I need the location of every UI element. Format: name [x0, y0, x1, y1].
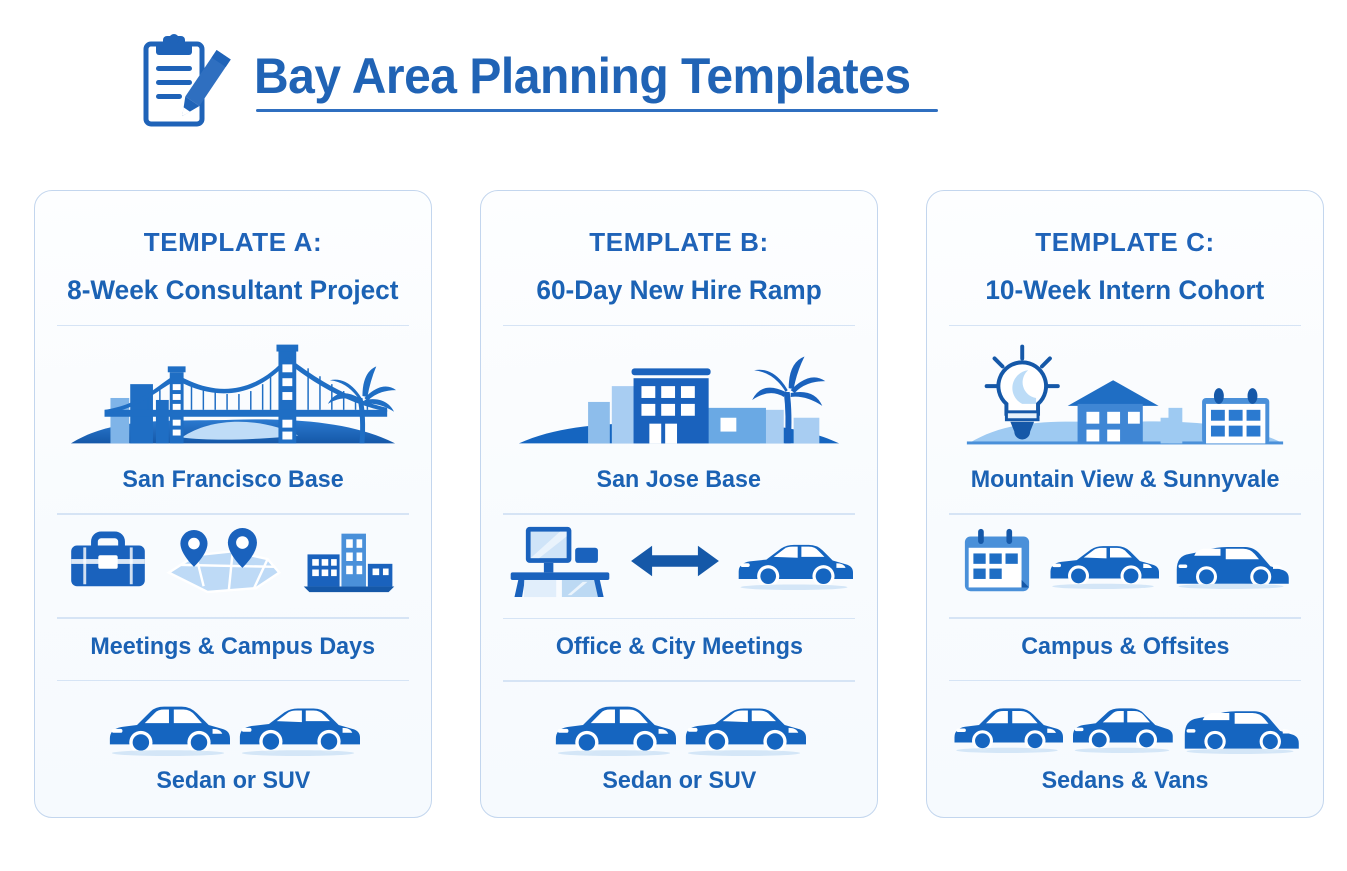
card-c-vehicle-row [949, 693, 1301, 757]
san-jose-office-building-illustration [503, 340, 855, 452]
suv-icon [552, 694, 676, 756]
hatchback-icon [1069, 697, 1175, 753]
card-c-location-caption: Mountain View & Sunnyvale [971, 466, 1280, 494]
card-a-divider-3 [57, 617, 409, 618]
sedan-icon [735, 531, 853, 590]
card-a-divider-1 [57, 325, 409, 326]
city-buildings-icon [301, 528, 397, 594]
card-b-activity-caption: Office & City Meetings [555, 633, 802, 661]
card-a-vehicle-row [57, 693, 409, 757]
card-b-eyebrow: TEMPLATE B: [589, 227, 768, 258]
card-c-activity-caption: Campus & Offsites [1021, 633, 1229, 661]
card-c-subtitle: 10-Week Intern Cohort [986, 275, 1265, 306]
card-c-divider-4 [949, 680, 1301, 681]
briefcase-icon [69, 530, 147, 592]
page-header: Bay Area Planning Templates [132, 30, 938, 134]
card-c-divider-1 [949, 325, 1301, 326]
card-b-location-caption: San Jose Base [597, 466, 761, 494]
card-c-vehicle-caption: Sedans & Vans [1042, 767, 1209, 795]
card-b-icon-row [503, 523, 855, 599]
card-c-divider-3 [949, 617, 1301, 618]
card-a-icon-row [57, 523, 409, 598]
template-card-c[interactable]: TEMPLATE C: 10-Week Intern Cohort [926, 190, 1324, 818]
card-a-divider-2 [57, 513, 409, 514]
card-b-divider-3 [503, 618, 855, 619]
clipboard-pencil-icon [132, 30, 236, 134]
card-b-subtitle: 60-Day New Hire Ramp [536, 275, 821, 306]
card-a-subtitle: 8-Week Consultant Project [67, 275, 398, 306]
card-a-eyebrow: TEMPLATE A: [144, 227, 322, 258]
sedan-icon [236, 694, 360, 756]
sedan-icon [1047, 533, 1159, 589]
card-b-divider-1 [503, 325, 855, 326]
van-icon [1181, 697, 1299, 754]
template-cards-row: TEMPLATE A: 8-Week Consultant Project [34, 190, 1324, 818]
double-arrow-icon [629, 540, 721, 582]
card-a-location-caption: San Francisco Base [122, 466, 343, 494]
desk-computer-icon [505, 523, 615, 599]
calendar-icon [961, 527, 1033, 595]
san-francisco-skyline-bridge-illustration [57, 340, 409, 452]
title-underline [256, 109, 938, 112]
card-c-icon-row [949, 523, 1301, 598]
lightbulb-house-calendar-illustration [949, 340, 1301, 452]
suv-icon [951, 697, 1063, 753]
template-card-a[interactable]: TEMPLATE A: 8-Week Consultant Project [34, 190, 432, 818]
card-b-vehicle-caption: Sedan or SUV [602, 767, 756, 795]
card-b-vehicle-row [503, 694, 855, 757]
card-c-eyebrow: TEMPLATE C: [1035, 227, 1214, 258]
card-b-divider-2 [503, 513, 855, 514]
map-with-pins-icon [161, 526, 287, 596]
sedan-icon [682, 694, 806, 756]
page-title: Bay Area Planning Templates [254, 50, 911, 103]
card-a-divider-4 [57, 680, 409, 681]
card-b-divider-4 [503, 680, 855, 681]
card-a-activity-caption: Meetings & Campus Days [91, 633, 376, 661]
card-c-divider-2 [949, 513, 1301, 514]
card-a-vehicle-caption: Sedan or SUV [156, 767, 310, 795]
page-title-wrap: Bay Area Planning Templates [254, 50, 938, 115]
template-card-b[interactable]: TEMPLATE B: 60-Day New Hire Ramp [480, 190, 878, 818]
suv-icon [106, 694, 230, 756]
van-icon [1173, 533, 1289, 589]
